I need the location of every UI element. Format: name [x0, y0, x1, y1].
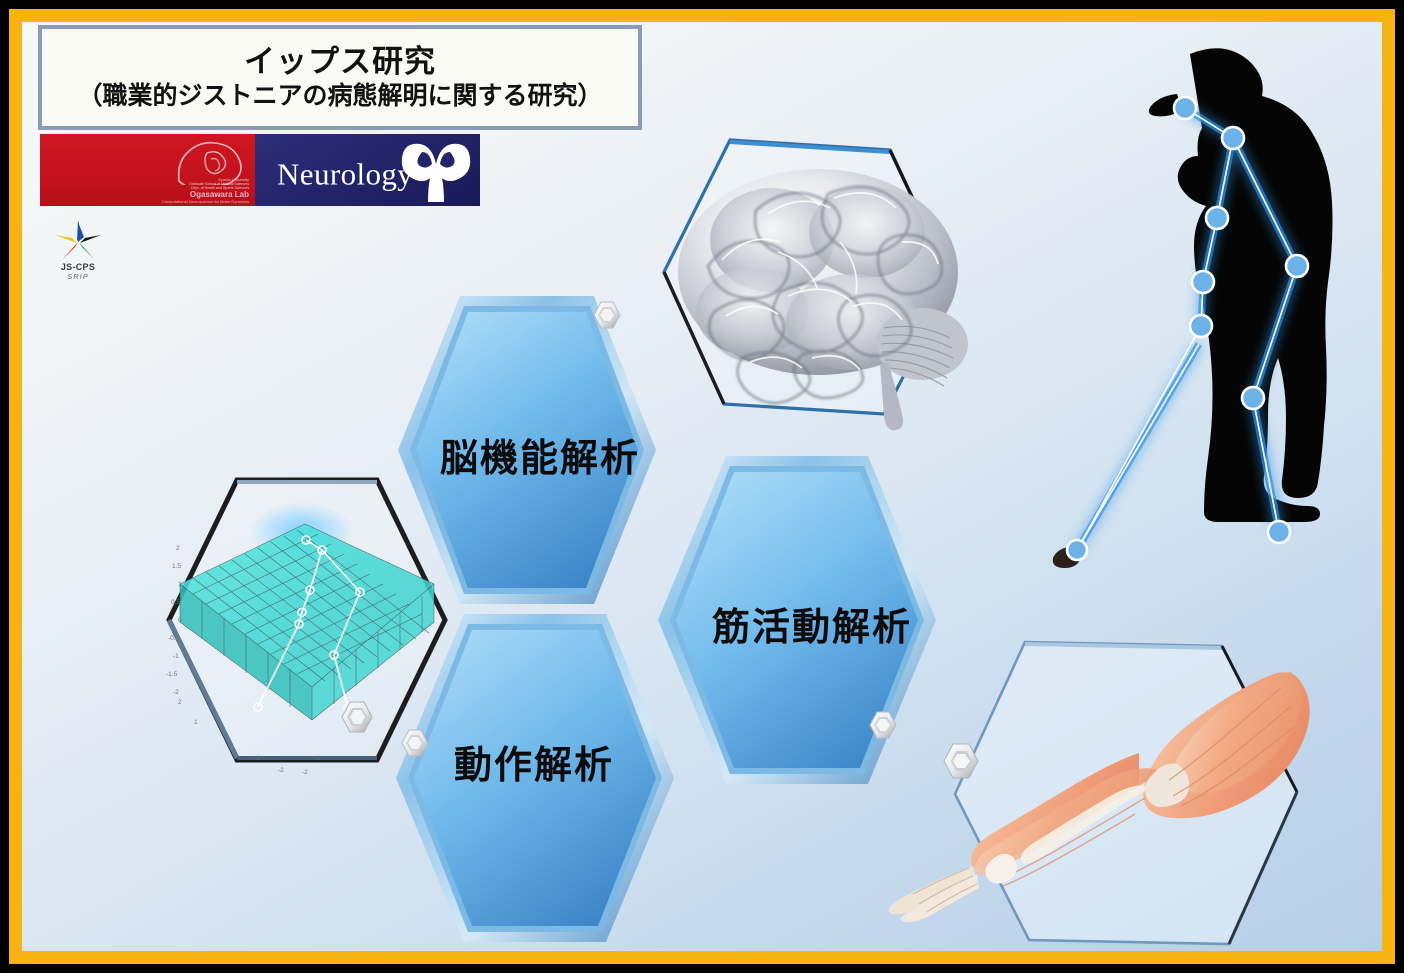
neurology-logo[interactable]: Neurology	[255, 134, 480, 206]
svg-text:0.5: 0.5	[171, 599, 180, 606]
js-cps-srip-logo[interactable]: JS-CPS SRIP	[40, 218, 116, 290]
multicolor-star-icon	[49, 218, 107, 264]
brain-render-image	[652, 132, 1012, 442]
svg-text:-2: -2	[302, 769, 308, 776]
logo-row: Kyushu University Graduate School of Med…	[40, 134, 480, 206]
neurology-logo-text: Neurology	[277, 156, 413, 192]
svg-text:1: 1	[178, 581, 182, 588]
js-cps-label: JS-CPS	[40, 262, 116, 272]
poster-title-box: イップス研究 （職業的ジストニアの病態解明に関する研究）	[38, 25, 642, 130]
bolt-icon-motion-hex[interactable]	[400, 728, 430, 763]
svg-text:-1.5: -1.5	[166, 671, 178, 678]
bolt-icon-glass-hex[interactable]	[942, 742, 980, 785]
hex-brain-function-label: 脳機能解析	[440, 427, 640, 482]
svg-text:-0.5: -0.5	[168, 635, 180, 642]
svg-text:2: 2	[178, 699, 182, 706]
svg-text:1: 1	[194, 719, 198, 726]
poster-content-area: 2 1.5 1 0.5 0 -0.5 -1 -1.5 -2 2 1 -1 -1 …	[22, 22, 1382, 951]
svg-text:-1: -1	[173, 653, 179, 660]
ogasawara-lab-logo[interactable]: Kyushu University Graduate School of Med…	[40, 134, 255, 206]
svg-text:-1: -1	[314, 755, 320, 762]
svg-text:-1: -1	[254, 755, 260, 762]
ogasawara-lab-caption: Kyushu University Graduate School of Med…	[162, 178, 249, 204]
srip-label: SRIP	[40, 272, 116, 281]
aan-brainstem-mark-icon	[400, 136, 472, 206]
svg-text:-2: -2	[173, 689, 179, 696]
page-title: イップス研究	[244, 44, 436, 80]
bolt-icon-brain-hex[interactable]	[592, 300, 622, 335]
poster-root: 2 1.5 1 0.5 0 -0.5 -1 -1.5 -2 2 1 -1 -1 …	[0, 0, 1404, 973]
bolt-icon-muscle-hex[interactable]	[868, 710, 898, 745]
golfer-silhouette-image	[1027, 32, 1382, 592]
svg-text:-2: -2	[278, 767, 284, 774]
page-subtitle: （職業的ジストニアの病態解明に関する研究）	[77, 81, 602, 111]
hex-motion-analysis-label: 動作解析	[454, 734, 614, 789]
svg-text:2: 2	[176, 545, 180, 552]
svg-text:0: 0	[178, 617, 182, 624]
hex-muscle-activity-label: 筋活動解析	[712, 596, 912, 651]
svg-text:1.5: 1.5	[172, 563, 181, 570]
bolt-icon-plot-hex[interactable]	[340, 700, 374, 739]
